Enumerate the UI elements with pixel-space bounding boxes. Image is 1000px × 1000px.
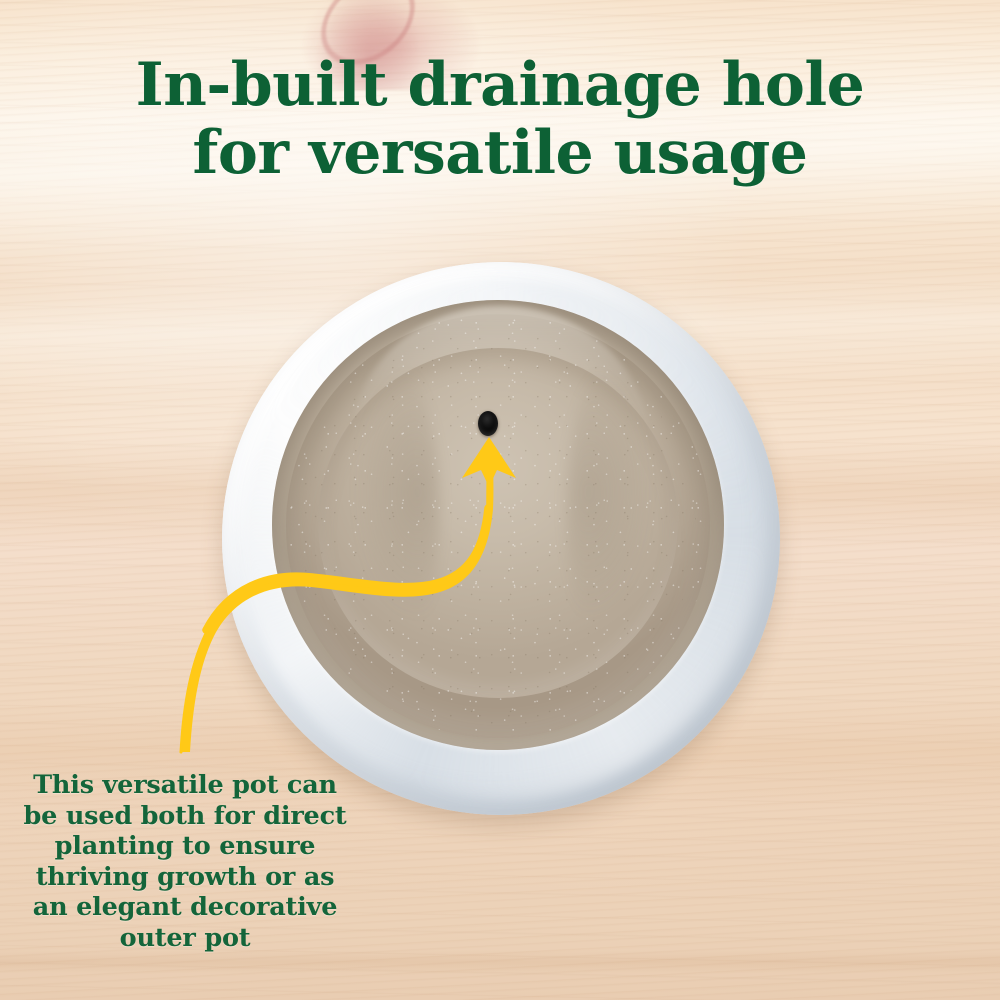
headline-line-1: In-built drainage hole xyxy=(0,52,1000,120)
caption-line-6: outer pot xyxy=(14,923,356,954)
headline-line-2: for versatile usage xyxy=(0,120,1000,188)
caption-line-5: an elegant decorative xyxy=(14,892,356,923)
feature-image-canvas: In-built drainage hole for versatile usa… xyxy=(0,0,1000,1000)
drainage-hole xyxy=(478,411,498,436)
caption-line-1: This versatile pot can xyxy=(14,770,356,801)
headline: In-built drainage hole for versatile usa… xyxy=(0,52,1000,188)
caption-line-2: be used both for direct xyxy=(14,801,356,832)
caption-block: This versatile pot can be used both for … xyxy=(14,770,356,954)
caption-line-3: planting to ensure xyxy=(14,831,356,862)
clay-speckle-texture-dark xyxy=(300,330,696,726)
caption-line-4: thriving growth or as xyxy=(14,862,356,893)
